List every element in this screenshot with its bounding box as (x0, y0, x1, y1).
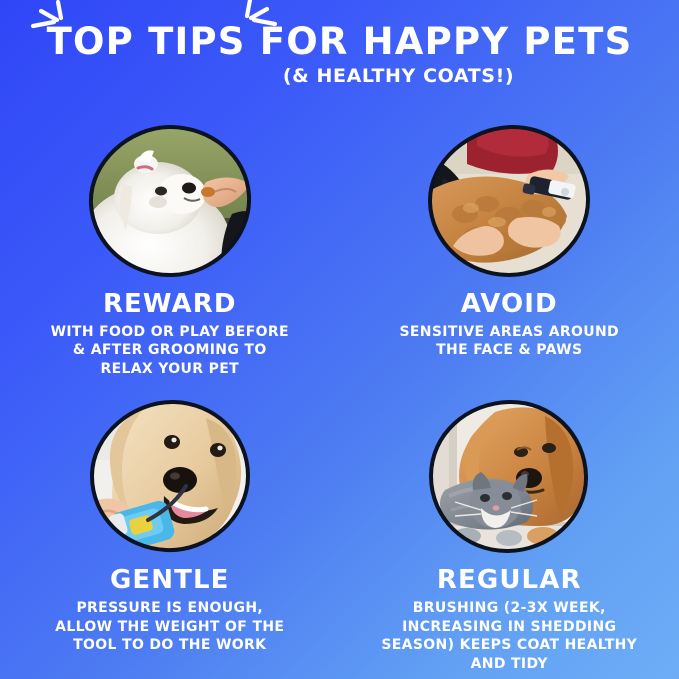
blob-photo-avoid-icon (425, 122, 593, 280)
tip-body: SENSITIVE AREAS AROUND THE FACE & PAWS (385, 323, 633, 360)
infographic-poster: TOP TIPS FOR HAPPY PETS (& HEALTHY COATS… (0, 0, 679, 679)
tip-body: PRESSURE IS ENOUGH, ALLOW THE WEIGHT OF … (46, 599, 294, 654)
tip-body: BRUSHING (2-3X WEEK, INCREASING IN SHEDD… (378, 599, 640, 673)
subtitle-row: (& HEALTHY COATS!) (0, 65, 679, 87)
tip-card-gentle: GENTLE PRESSURE IS ENOUGH, ALLOW THE WEI… (0, 398, 340, 673)
tips-grid: REWARD WITH FOOD OR PLAY BEFORE & AFTER … (0, 122, 679, 673)
tip-title: AVOID (461, 291, 558, 317)
tips-row: GENTLE PRESSURE IS ENOUGH, ALLOW THE WEI… (0, 398, 679, 673)
page-subtitle: (& HEALTHY COATS!) (283, 65, 514, 87)
tip-image-regular (425, 398, 593, 556)
blob-photo-reward-icon (86, 122, 254, 280)
tip-body: WITH FOOD OR PLAY BEFORE & AFTER GROOMIN… (46, 323, 294, 378)
blob-photo-gentle-icon (86, 398, 254, 556)
tip-image-gentle (86, 398, 254, 556)
tip-card-avoid: AVOID SENSITIVE AREAS AROUND THE FACE & … (340, 122, 679, 378)
tip-title: REGULAR (437, 567, 582, 593)
blob-photo-regular-icon (425, 398, 593, 556)
tip-image-reward (86, 122, 254, 280)
tip-title: REWARD (103, 291, 237, 317)
tip-card-reward: REWARD WITH FOOD OR PLAY BEFORE & AFTER … (0, 122, 340, 378)
tip-title: GENTLE (110, 567, 230, 593)
tip-image-avoid (425, 122, 593, 280)
tips-row: REWARD WITH FOOD OR PLAY BEFORE & AFTER … (0, 122, 679, 378)
title-row: TOP TIPS FOR HAPPY PETS (41, 22, 639, 62)
header: TOP TIPS FOR HAPPY PETS (& HEALTHY COATS… (0, 22, 679, 87)
tip-card-regular: REGULAR BRUSHING (2-3X WEEK, INCREASING … (340, 398, 679, 673)
page-title: TOP TIPS FOR HAPPY PETS (47, 22, 633, 62)
